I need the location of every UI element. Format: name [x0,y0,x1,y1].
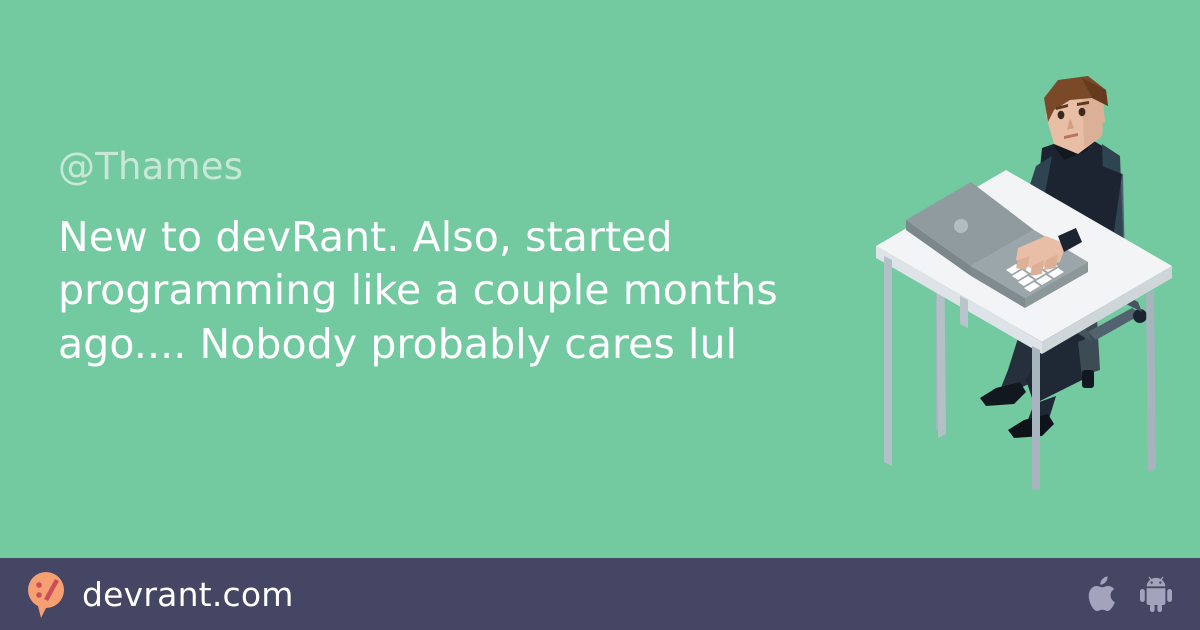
developer-at-desk-illustration [820,70,1190,490]
brand-name-label: devrant.com [82,578,294,611]
rant-canvas: @Thames New to devRant. Also, started pr… [0,0,1200,558]
brand-block[interactable]: devrant.com [24,570,294,618]
devrant-speech-bubble-logo[interactable] [24,570,68,618]
footer-bar: devrant.com [0,558,1200,630]
devrant-share-card: @Thames New to devRant. Also, started pr… [0,0,1200,630]
rant-username[interactable]: @Thames [58,148,788,185]
rant-body-text: New to devRant. Also, started programmin… [58,211,778,371]
android-icon[interactable] [1140,576,1172,612]
rant-content: @Thames New to devRant. Also, started pr… [58,148,788,371]
store-badges [1088,576,1172,612]
developer-at-desk-svg [820,70,1190,490]
apple-icon[interactable] [1088,576,1118,612]
person-head [1044,76,1108,154]
